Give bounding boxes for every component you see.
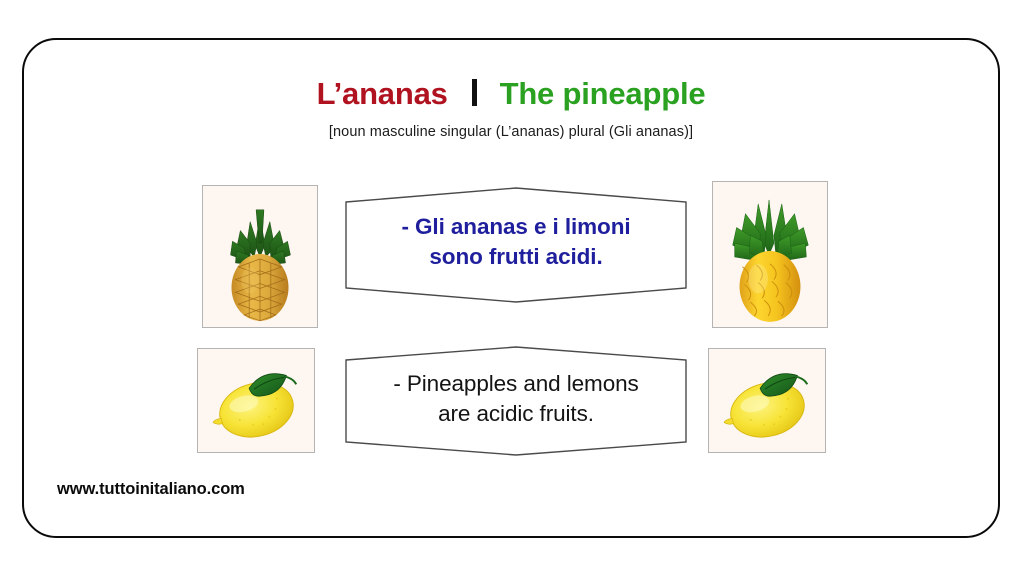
sentence-text-italian: - Gli ananas e i limoni sono frutti acid…	[344, 212, 688, 271]
pineapple-illustration-icon	[713, 182, 827, 327]
sentence-callout-italian: - Gli ananas e i limoni sono frutti acid…	[344, 186, 688, 304]
grammar-note: [noun masculine singular (L’ananas) plur…	[24, 124, 998, 140]
sentence-text-english: - Pineapples and lemons are acidic fruit…	[344, 369, 688, 428]
image-pineapple-illustration	[712, 181, 828, 328]
lemon-icon	[198, 349, 314, 452]
image-lemon-right	[708, 348, 826, 453]
title-english: The pineapple	[500, 76, 706, 111]
sentence-callout-english: - Pineapples and lemons are acidic fruit…	[344, 345, 688, 457]
title-separator	[472, 79, 477, 106]
title-italian: L’ananas	[317, 76, 448, 111]
website-url[interactable]: www.tuttoinitaliano.com	[57, 480, 245, 499]
lemon-icon	[709, 349, 825, 452]
image-lemon-left	[197, 348, 315, 453]
title-row: L’ananas The pineapple	[24, 78, 998, 109]
pineapple-photo-icon	[203, 186, 317, 327]
lesson-card: L’ananas The pineapple [noun masculine s…	[22, 38, 1000, 538]
image-pineapple-photo	[202, 185, 318, 328]
